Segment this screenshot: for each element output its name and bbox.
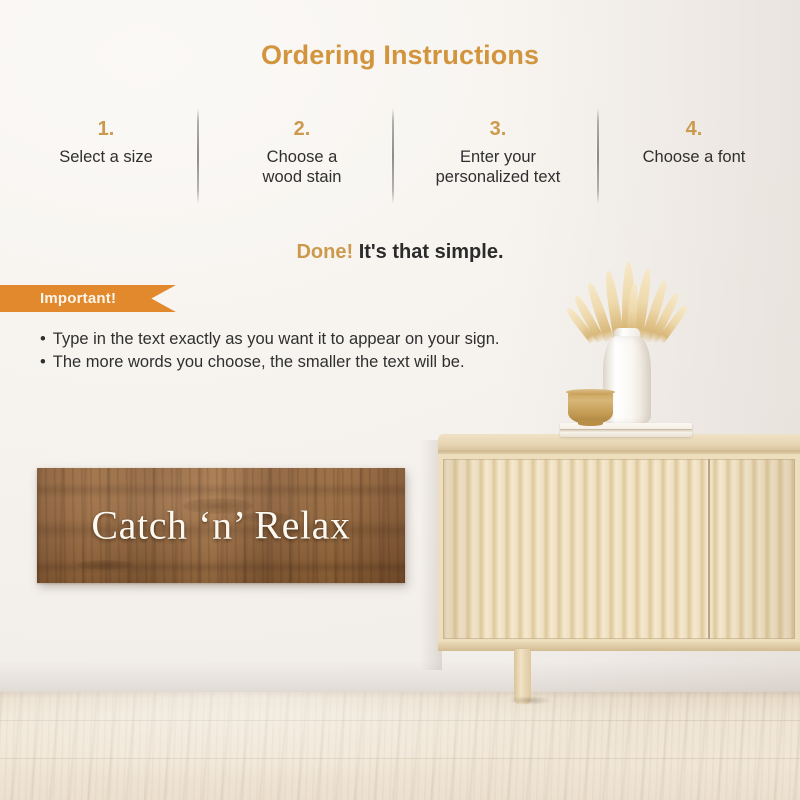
list-item: •The more words you choose, the smaller …	[40, 351, 640, 374]
step-number: 4.	[596, 118, 792, 141]
step-number: 2.	[204, 118, 400, 141]
done-tagline: Done! It's that simple.	[0, 241, 800, 264]
sign-personalized-text: Catch ‘n’ Relax	[37, 501, 405, 548]
sideboard-furniture	[438, 434, 800, 664]
bullet-text: The more words you choose, the smaller t…	[53, 353, 465, 371]
product-lifestyle-image: Ordering Instructions 1. Select a size 2…	[0, 0, 800, 800]
book-page-edge	[560, 429, 692, 430]
step-item-1: 1. Select a size	[8, 118, 204, 187]
sideboard-leg-shadow	[508, 696, 552, 705]
step-number: 1.	[8, 118, 204, 141]
sideboard-bottom-rail	[438, 642, 800, 651]
step-label: Select a size	[8, 147, 204, 167]
step-number: 3.	[400, 118, 596, 141]
bullet-dot-icon: •	[40, 330, 46, 348]
wood-floor	[0, 692, 800, 800]
done-highlight: Done!	[296, 241, 353, 263]
step-item-4: 4. Choose a font	[596, 118, 792, 187]
bullet-dot-icon: •	[40, 353, 46, 371]
list-item: •Type in the text exactly as you want it…	[40, 328, 640, 351]
sideboard-frame	[438, 454, 800, 644]
important-ribbon: Important!	[0, 285, 176, 312]
done-rest: It's that simple.	[353, 241, 503, 263]
brass-bowl-foot	[578, 420, 603, 426]
important-ribbon-label: Important!	[0, 290, 116, 307]
step-label: Enter your personalized text	[400, 147, 596, 187]
step-label: Choose a wood stain	[204, 147, 400, 187]
step-label: Choose a font	[596, 147, 792, 167]
floor-light-sheen	[0, 692, 800, 800]
bullet-text: Type in the text exactly as you want it …	[53, 330, 500, 348]
step-item-2: 2. Choose a wood stain	[204, 118, 400, 187]
page-title: Ordering Instructions	[0, 40, 800, 71]
step-item-3: 3. Enter your personalized text	[400, 118, 596, 187]
brass-bowl-rim	[566, 389, 615, 395]
wood-sign-product: Catch ‘n’ Relax	[37, 468, 405, 583]
important-notes-list: •Type in the text exactly as you want it…	[40, 328, 640, 375]
ordering-steps-list: 1. Select a size 2. Choose a wood stain …	[8, 118, 792, 187]
